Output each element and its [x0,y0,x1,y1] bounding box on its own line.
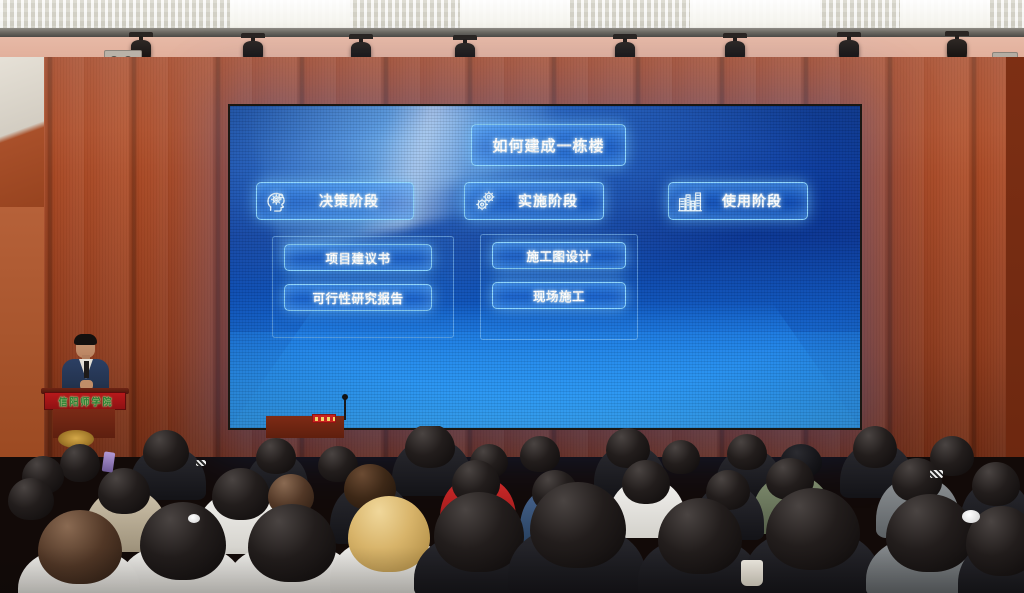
audience-head [60,444,100,482]
lecture-hall-scene: 如何建成一栋楼 决策阶段 [0,0,1024,593]
audience-head [143,430,189,472]
podium-name-banner: 信 阳 师 学 院 [44,392,126,410]
audience-head [853,426,897,468]
audience-head [212,468,270,520]
ceiling-rail-beam [0,28,1024,37]
side-wall-left [0,57,44,457]
led-screen-surface: 如何建成一栋楼 决策阶段 [230,106,860,428]
speaker-hair [74,334,97,345]
podium-banner-char: 师 [80,394,89,409]
side-wall-right [1006,57,1024,457]
microphone-stand [344,398,346,420]
hair-clip [196,460,206,466]
audience-head [972,462,1020,506]
speaker-tie [84,361,89,378]
hair-scrunchie [188,514,200,523]
ceiling-light-panel [900,0,990,30]
ceiling-light-panel [690,0,820,30]
foreground-shadow [0,547,1024,593]
podium-banner-char: 学 [92,394,101,409]
upper-wall-band [0,37,1024,57]
screen-vignette [230,106,860,428]
audience-head [98,468,150,514]
audience-head [256,438,296,474]
ceiling-light-panel [230,0,350,30]
hair-scrunchie [962,510,980,523]
audience-head [622,460,670,504]
audience-head [662,440,700,474]
audience-head [405,426,455,468]
podium-banner-char: 信 [58,394,67,409]
ceiling [0,0,1024,30]
podium-banner-char: 阳 [69,394,78,409]
led-screen: 如何建成一栋楼 决策阶段 [228,104,862,430]
audience-head [520,436,560,472]
ceiling-light-panel [460,0,570,30]
audience-head [727,434,767,470]
hair-clip [930,470,943,478]
audience-head [8,478,54,520]
podium-banner-char: 院 [103,394,112,409]
table-name-card [312,414,336,423]
